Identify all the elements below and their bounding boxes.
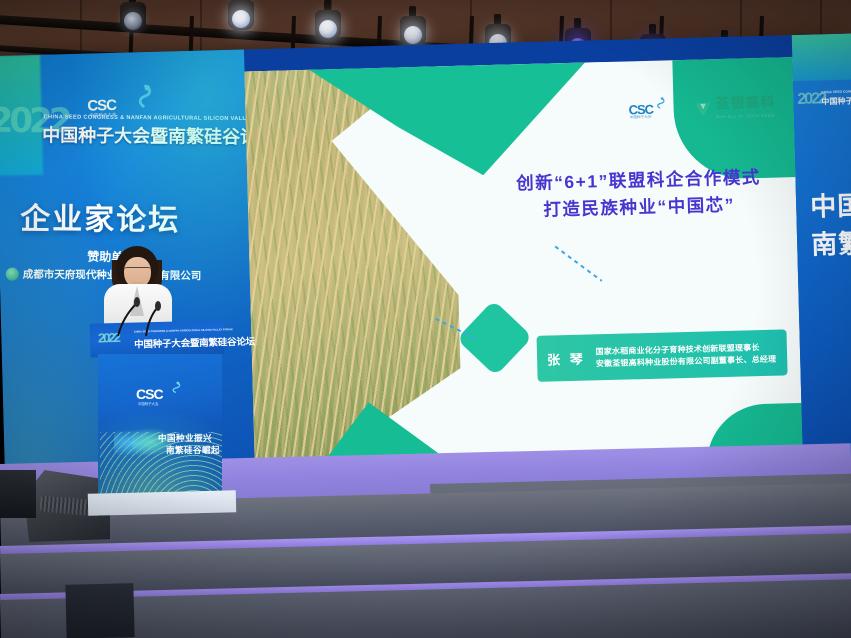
right-line-2: 南繁 bbox=[811, 223, 851, 261]
right-green-accent bbox=[792, 33, 851, 81]
winall-v-icon bbox=[694, 99, 711, 116]
stage-light-icon bbox=[228, 0, 254, 36]
stage-light-icon bbox=[315, 0, 341, 46]
podium-csc-sub: 中国种子大会 bbox=[138, 401, 158, 406]
podium-base bbox=[88, 490, 236, 516]
microphones bbox=[112, 292, 172, 338]
slide-csc-sub: 中国种子大会 bbox=[630, 115, 652, 121]
podium-front-panel: CSC 中国种子大会 中国种业振兴 南繁硅谷崛起 bbox=[98, 354, 222, 498]
backdrop-green-accent bbox=[0, 55, 43, 176]
speaker-info-box: 张 琴 国家水稻商业化分子育种技术创新联盟理事长 安徽荃银高科种业股份有限公司副… bbox=[537, 329, 788, 382]
backdrop-csc-text: CSC bbox=[87, 97, 116, 115]
right-congress-en: CHINA SEED CONGRESS bbox=[821, 89, 851, 94]
right-line-1: 中国 bbox=[810, 185, 851, 223]
podium-slogan-2: 南繁硅谷崛起 bbox=[166, 444, 220, 456]
speaker-roles: 国家水稻商业化分子育种技术创新联盟理事长 安徽荃银高科种业股份有限公司副董事长、… bbox=[595, 341, 776, 369]
presentation-slide: CSC 中国种子大会 荃银高科 WIN-ALL HI-TECH SEED 创新“… bbox=[244, 57, 803, 489]
podium: 2022 CHINA SEED CONGRESS & NANFAN AGRICU… bbox=[88, 322, 224, 500]
podium-slogan-1: 中国种业振兴 bbox=[158, 432, 212, 444]
csc-swoosh-icon bbox=[131, 84, 154, 111]
stage-light-icon bbox=[120, 0, 146, 38]
slide-winall-logo: 荃银高科 WIN-ALL HI-TECH SEED bbox=[694, 94, 776, 120]
csc-swoosh-icon bbox=[170, 374, 192, 400]
stage-photo-scene: 2022 CSC 中国种子大会 CHINA SEED CONGRESS & NA… bbox=[0, 0, 851, 638]
right-congress-cn: 中国种子大会 bbox=[821, 95, 851, 107]
stage-dark-block bbox=[65, 583, 134, 638]
backdrop-congress-cn: 中国种子大会暨南繁硅谷论坛 bbox=[42, 121, 242, 149]
speaker-name: 张 琴 bbox=[547, 348, 586, 368]
backdrop-year: 2022 bbox=[0, 101, 69, 142]
podium-csc-text: CSC bbox=[136, 386, 163, 402]
slide-csc-logo: CSC 中国种子大会 bbox=[628, 96, 673, 121]
glasses-icon bbox=[124, 267, 151, 273]
backdrop-forum-title: 企业家论坛 bbox=[20, 194, 230, 240]
slide-title: 创新“6+1”联盟科企合作模式 打造民族种业“中国芯” bbox=[499, 164, 778, 226]
winall-cn-text: 荃银高科 bbox=[715, 94, 775, 112]
slide-logo-row: CSC 中国种子大会 荃银高科 WIN-ALL HI-TECH SEED bbox=[628, 94, 776, 122]
backdrop-csc-sub: 中国种子大会 bbox=[90, 112, 117, 119]
sponsor-logo-icon bbox=[6, 268, 19, 281]
speaker-shadow-block bbox=[0, 470, 36, 518]
backdrop-csc-logo: CSC 中国种子大会 bbox=[87, 90, 150, 122]
csc-swoosh-icon bbox=[654, 90, 675, 115]
podium-csc-logo: CSC 中国种子大会 bbox=[136, 382, 186, 408]
backdrop-congress-en: CHINA SEED CONGRESS & NANFAN AGRICULTURA… bbox=[44, 114, 239, 122]
